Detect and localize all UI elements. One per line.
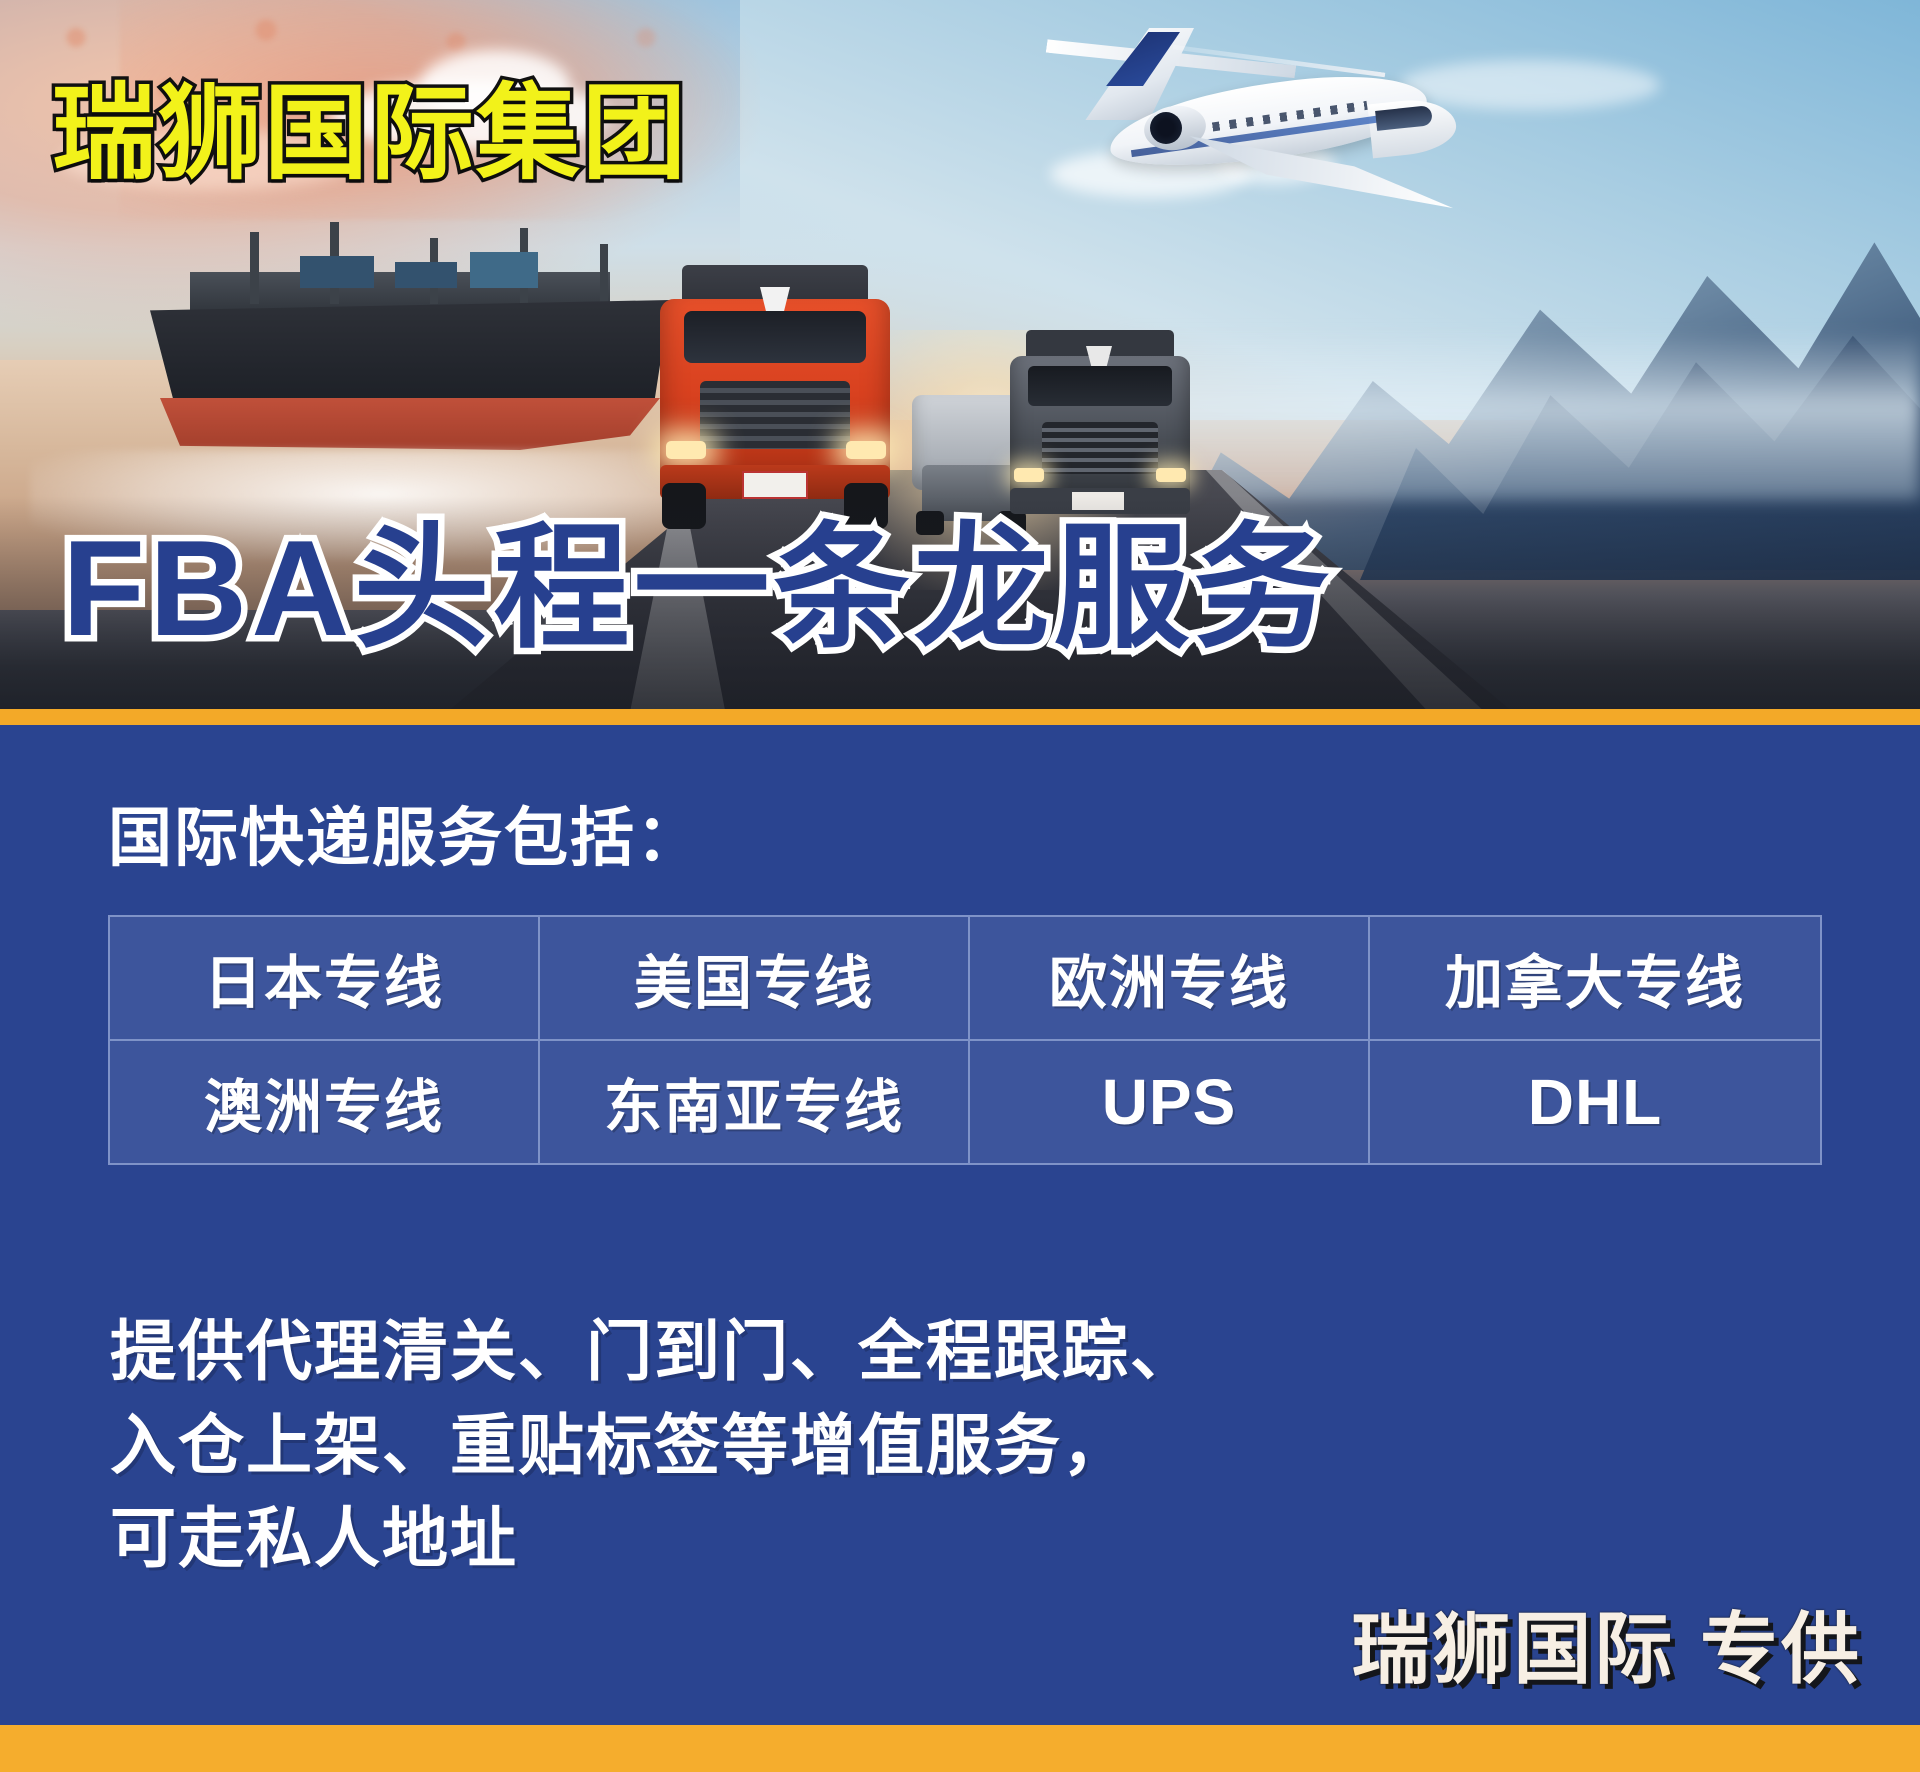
brand-title: 瑞狮国际集团 [52, 82, 688, 186]
service-cell-dhl[interactable]: DHL [1369, 1040, 1821, 1164]
service-cell-canada[interactable]: 加拿大专线 [1369, 916, 1821, 1040]
airplane-icon [1040, 22, 1470, 222]
headlight-icon [1156, 468, 1186, 482]
service-cell-usa[interactable]: 美国专线 [539, 916, 969, 1040]
description-line-2: 入仓上架、重贴标签等增值服务， [110, 1399, 1198, 1493]
services-description: 提供代理清关、门到门、全程跟踪、 入仓上架、重贴标签等增值服务， 可走私人地址 [110, 1305, 1198, 1586]
grey-truck-windshield [1028, 366, 1172, 406]
ship-crane [600, 244, 608, 304]
shipping-container [300, 256, 374, 288]
poster-root: 瑞狮国际集团 FBA头程一条龙服务 国际快递服务包括： 日本专线 美国专线 欧洲… [0, 0, 1920, 1772]
shipping-container [395, 262, 457, 288]
airplane-engine-intake [1150, 112, 1182, 144]
grey-truck-grille [1042, 422, 1158, 474]
accent-divider [0, 709, 1920, 725]
red-truck-grille [700, 381, 850, 449]
table-row: 日本专线 美国专线 欧洲专线 加拿大专线 [109, 916, 1821, 1040]
service-cell-europe[interactable]: 欧洲专线 [969, 916, 1369, 1040]
service-cell-japan[interactable]: 日本专线 [109, 916, 539, 1040]
red-truck-windshield [684, 311, 866, 363]
footer-brand: 瑞狮国际 专供 [1351, 1587, 1862, 1699]
headline: FBA头程一条龙服务 [62, 520, 1334, 656]
service-cell-ups[interactable]: UPS [969, 1040, 1369, 1164]
info-panel: 国际快递服务包括： 日本专线 美国专线 欧洲专线 加拿大专线 澳洲专线 东南亚专… [0, 725, 1920, 1725]
red-truck [660, 265, 890, 530]
license-plate [742, 471, 808, 499]
table-row: 澳洲专线 东南亚专线 UPS DHL [109, 1040, 1821, 1164]
headlight-icon [666, 441, 706, 459]
ship-crane [250, 232, 259, 304]
bottom-accent-bar [0, 1725, 1920, 1772]
service-cell-australia[interactable]: 澳洲专线 [109, 1040, 539, 1164]
shipping-container [470, 252, 538, 288]
mountain-mist [1120, 330, 1920, 500]
service-cell-southeast-asia[interactable]: 东南亚专线 [539, 1040, 969, 1164]
description-line-3: 可走私人地址 [110, 1492, 1198, 1586]
panel-heading: 国际快递服务包括： [108, 787, 702, 879]
description-line-1: 提供代理清关、门到门、全程跟踪、 [110, 1305, 1198, 1399]
hero-image: 瑞狮国际集团 FBA头程一条龙服务 [0, 0, 1920, 726]
services-table: 日本专线 美国专线 欧洲专线 加拿大专线 澳洲专线 东南亚专线 UPS DHL [108, 915, 1822, 1165]
headlight-icon [846, 441, 886, 459]
headlight-icon [1014, 468, 1044, 482]
